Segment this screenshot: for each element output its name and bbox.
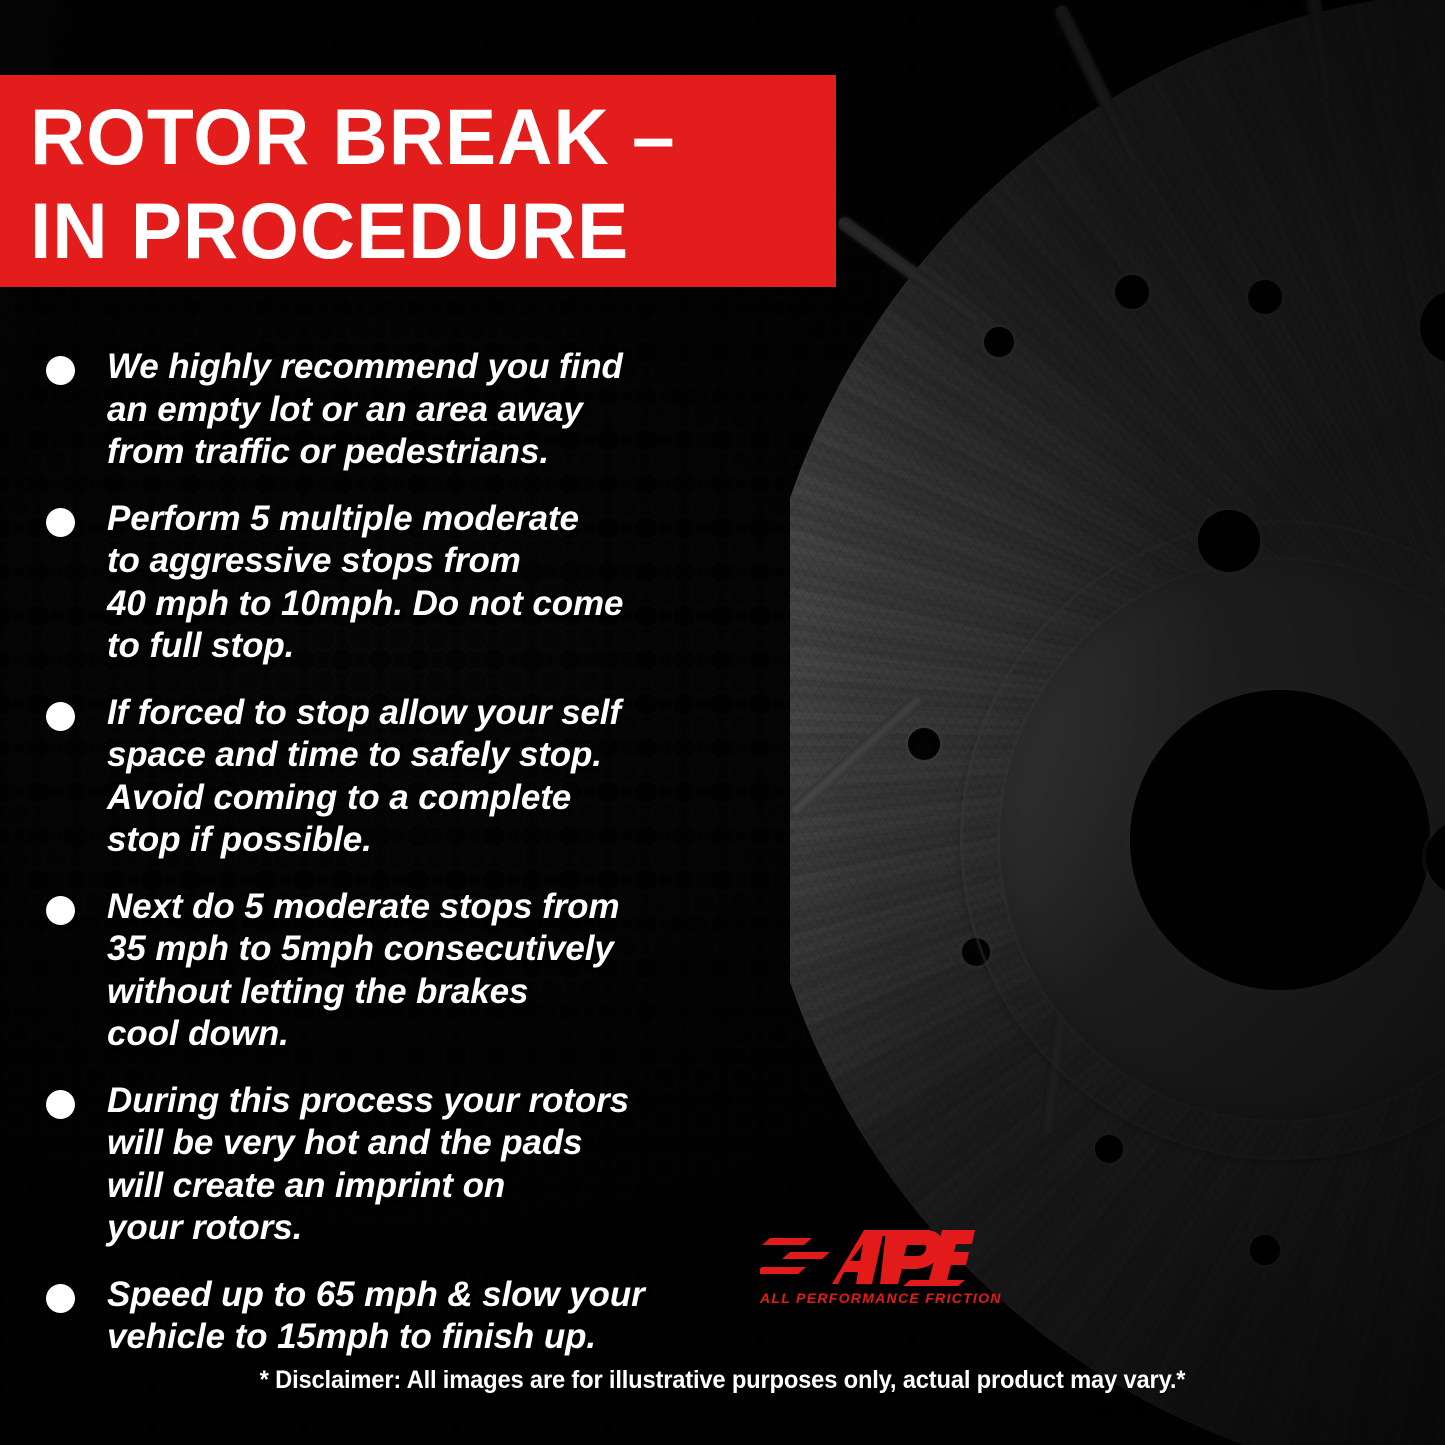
page-title-line-2: IN PROCEDURE [30,184,794,278]
rotor-break-in-infographic: ROTOR BREAK – IN PROCEDURE We highly rec… [0,0,1445,1445]
instruction-list: We highly recommend you find an empty lo… [46,346,776,1383]
list-item: If forced to stop allow your self space … [46,692,776,862]
list-item: We highly recommend you find an empty lo… [46,346,776,474]
list-item-text: We highly recommend you find an empty lo… [107,346,623,474]
bullet-dot-icon [46,1090,75,1119]
list-item: During this process your rotors will be … [46,1080,776,1250]
disclaimer-text: * Disclaimer: All images are for illustr… [36,1366,1409,1395]
list-item: Next do 5 moderate stops from 35 mph to … [46,886,776,1056]
list-item: Perform 5 multiple moderate to aggressiv… [46,498,776,668]
page-title-line-1: ROTOR BREAK – [30,90,794,184]
bullet-dot-icon [46,896,75,925]
title-banner: ROTOR BREAK – IN PROCEDURE [0,75,836,287]
list-item-text: Next do 5 moderate stops from 35 mph to … [107,886,619,1056]
bullet-dot-icon [46,1284,75,1313]
bullet-dot-icon [46,702,75,731]
list-item-text: If forced to stop allow your self space … [107,692,621,862]
list-item: Speed up to 65 mph & slow your vehicle t… [46,1274,776,1359]
list-item-text: Perform 5 multiple moderate to aggressiv… [107,498,623,668]
list-item-text: Speed up to 65 mph & slow your vehicle t… [107,1274,645,1359]
bullet-dot-icon [46,356,75,385]
apf-wordmark-icon [760,1222,975,1294]
list-item-text: During this process your rotors will be … [107,1080,629,1250]
bullet-dot-icon [46,508,75,537]
apf-brand-logo: ALL PERFORMANCE FRICTION [760,1222,975,1327]
